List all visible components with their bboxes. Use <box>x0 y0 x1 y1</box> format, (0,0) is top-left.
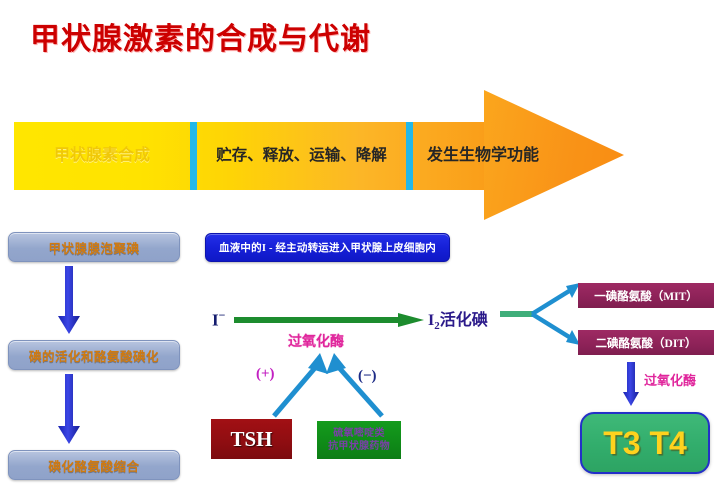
product-mit-label: 一碘酪氨酸（MIT） <box>594 288 698 304</box>
substrate-iodide-label: I− <box>212 308 225 331</box>
inhibitor-label-line1: 硫氧嘧啶类 <box>333 427 385 440</box>
regulator-arrows-icon <box>248 350 408 422</box>
final-hormone-label: T3 T4 <box>603 425 687 462</box>
banner-segment-function: 发生生物学功能 <box>413 122 613 190</box>
flow-step-3: 碘化酪氨酸缩合 <box>8 450 180 480</box>
negative-regulation-sign: (−) <box>358 368 377 385</box>
banner-divider-1 <box>190 122 197 190</box>
product-dit-box: 二碘酪氨酸（DIT） <box>578 330 714 355</box>
banner-segment-label: 贮存、释放、运输、降解 <box>216 146 387 165</box>
banner-segment-label: 甲状腺素合成 <box>54 146 150 166</box>
info-callout: 血液中的I - 经主动转运进入甲状腺上皮细胞内 <box>205 233 450 262</box>
substrate-charge: − <box>219 308 226 322</box>
product-dit-label: 二碘酪氨酸（DIT） <box>596 335 697 351</box>
substrate-symbol: I <box>212 311 219 330</box>
activator-label: TSH <box>230 427 272 452</box>
flow-step-1: 甲状腺腺泡聚碘 <box>8 232 180 262</box>
down-arrow-icon <box>622 362 640 408</box>
product-name: 活化碘 <box>440 312 488 329</box>
flow-step-label: 甲状腺腺泡聚碘 <box>48 238 139 257</box>
banner-segment-synthesis: 甲状腺素合成 <box>14 122 190 190</box>
inhibitor-label-line2: 抗甲状腺药物 <box>328 440 390 453</box>
positive-regulation-sign: (+) <box>256 366 275 383</box>
inhibitor-drug-box: 硫氧嘧啶类 抗甲状腺药物 <box>317 421 401 459</box>
info-callout-label: 血液中的I - 经主动转运进入甲状腺上皮细胞内 <box>219 240 436 255</box>
flow-step-label: 碘化酪氨酸缩合 <box>48 456 139 475</box>
activator-tsh-box: TSH <box>211 419 292 459</box>
flow-step-2: 碘的活化和酪氨酸碘化 <box>8 340 180 370</box>
down-arrow-icon <box>56 266 82 336</box>
process-banner-arrow: 甲状腺素合成 贮存、释放、运输、降解 发生生物学功能 <box>14 90 624 220</box>
product-activated-iodine-label: I2活化碘 <box>428 306 488 332</box>
banner-segment-label: 发生生物学功能 <box>427 146 539 166</box>
banner-segment-storage: 贮存、释放、运输、降解 <box>197 122 406 190</box>
slide-canvas: 甲状腺激素的合成与代谢 甲状腺素合成 贮存、释放、运输、降解 发生生物学功能 甲… <box>0 0 719 495</box>
banner-divider-2 <box>406 122 413 190</box>
page-title: 甲状腺激素的合成与代谢 <box>30 14 371 58</box>
flow-step-label: 碘的活化和酪氨酸碘化 <box>29 346 159 365</box>
reaction-arrow-icon <box>234 312 426 328</box>
down-arrow-icon <box>56 374 82 446</box>
final-hormone-box: T3 T4 <box>580 412 710 474</box>
product-mit-box: 一碘酪氨酸（MIT） <box>578 283 714 308</box>
enzyme-label-center: 过氧化酶 <box>288 331 344 351</box>
enzyme-label-right: 过氧化酶 <box>644 370 696 389</box>
